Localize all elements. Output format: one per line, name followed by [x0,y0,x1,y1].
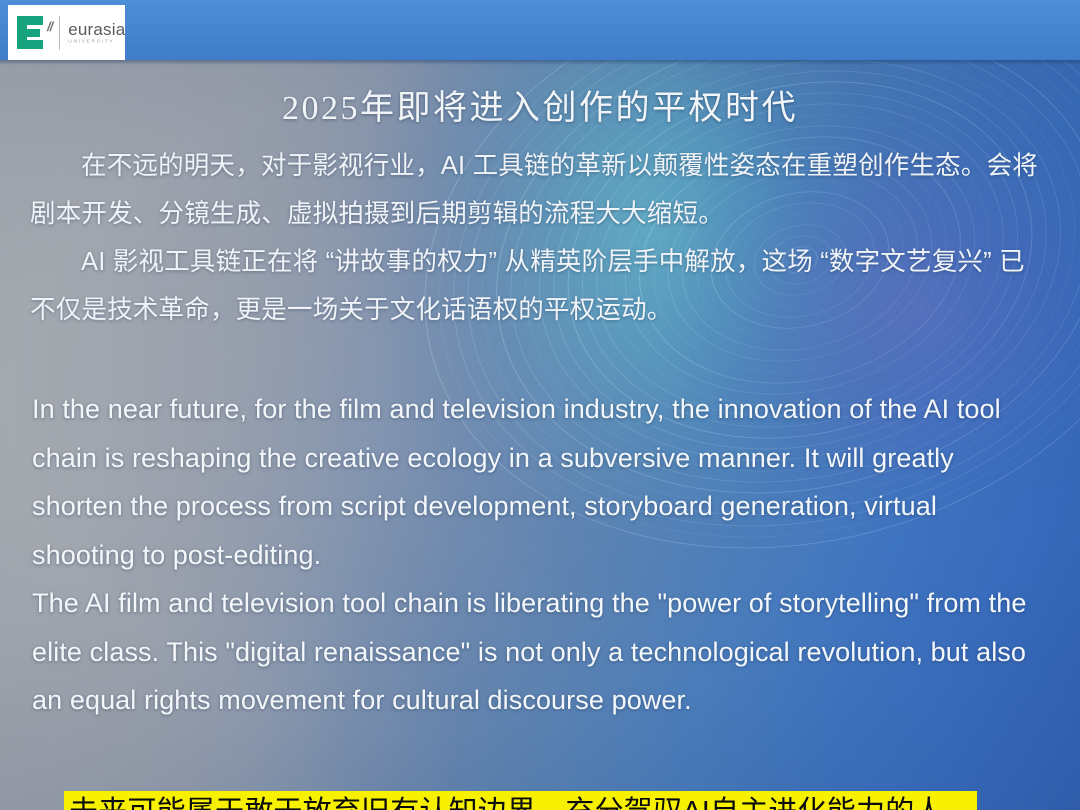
presentation-slide: // eurasia UNIVERSITY 2025年即将进入创作的平权时代 在… [0,0,1080,810]
top-banner [0,0,1080,60]
eurasia-university-logo: // eurasia UNIVERSITY [8,5,125,60]
logo-divider [59,16,60,50]
chinese-paragraph-2: AI 影视工具链正在将 “讲故事的权力” 从精英阶层手中解放，这场 “数字文艺复… [30,238,1050,334]
highlighted-conclusion-text: 未来可能属于敢于放弃旧有认知边界，充分驾驭AI自主进化能力的人。 [64,791,977,810]
logo-wordmark: eurasia UNIVERSITY [68,21,125,45]
english-body-text: In the near future, for the film and tel… [32,385,1047,725]
logo-subtitle: UNIVERSITY [68,40,125,45]
chinese-paragraph-1: 在不远的明天，对于影视行业，AI 工具链的革新以颠覆性姿态在重塑创作生态。会将剧… [30,142,1050,238]
chinese-body-text: 在不远的明天，对于影视行业，AI 工具链的革新以颠覆性姿态在重塑创作生态。会将剧… [30,142,1050,334]
slide-title: 2025年即将进入创作的平权时代 [0,80,1080,129]
english-paragraph-1: In the near future, for the film and tel… [32,385,1047,579]
logo-name: eurasia [68,21,125,38]
english-paragraph-2: The AI film and television tool chain is… [32,579,1047,725]
logo-slashes-icon: // [47,19,52,34]
logo-e-mark-icon [17,16,46,49]
slide-content: 2025年即将进入创作的平权时代 在不远的明天，对于影视行业，AI 工具链的革新… [0,60,1080,810]
